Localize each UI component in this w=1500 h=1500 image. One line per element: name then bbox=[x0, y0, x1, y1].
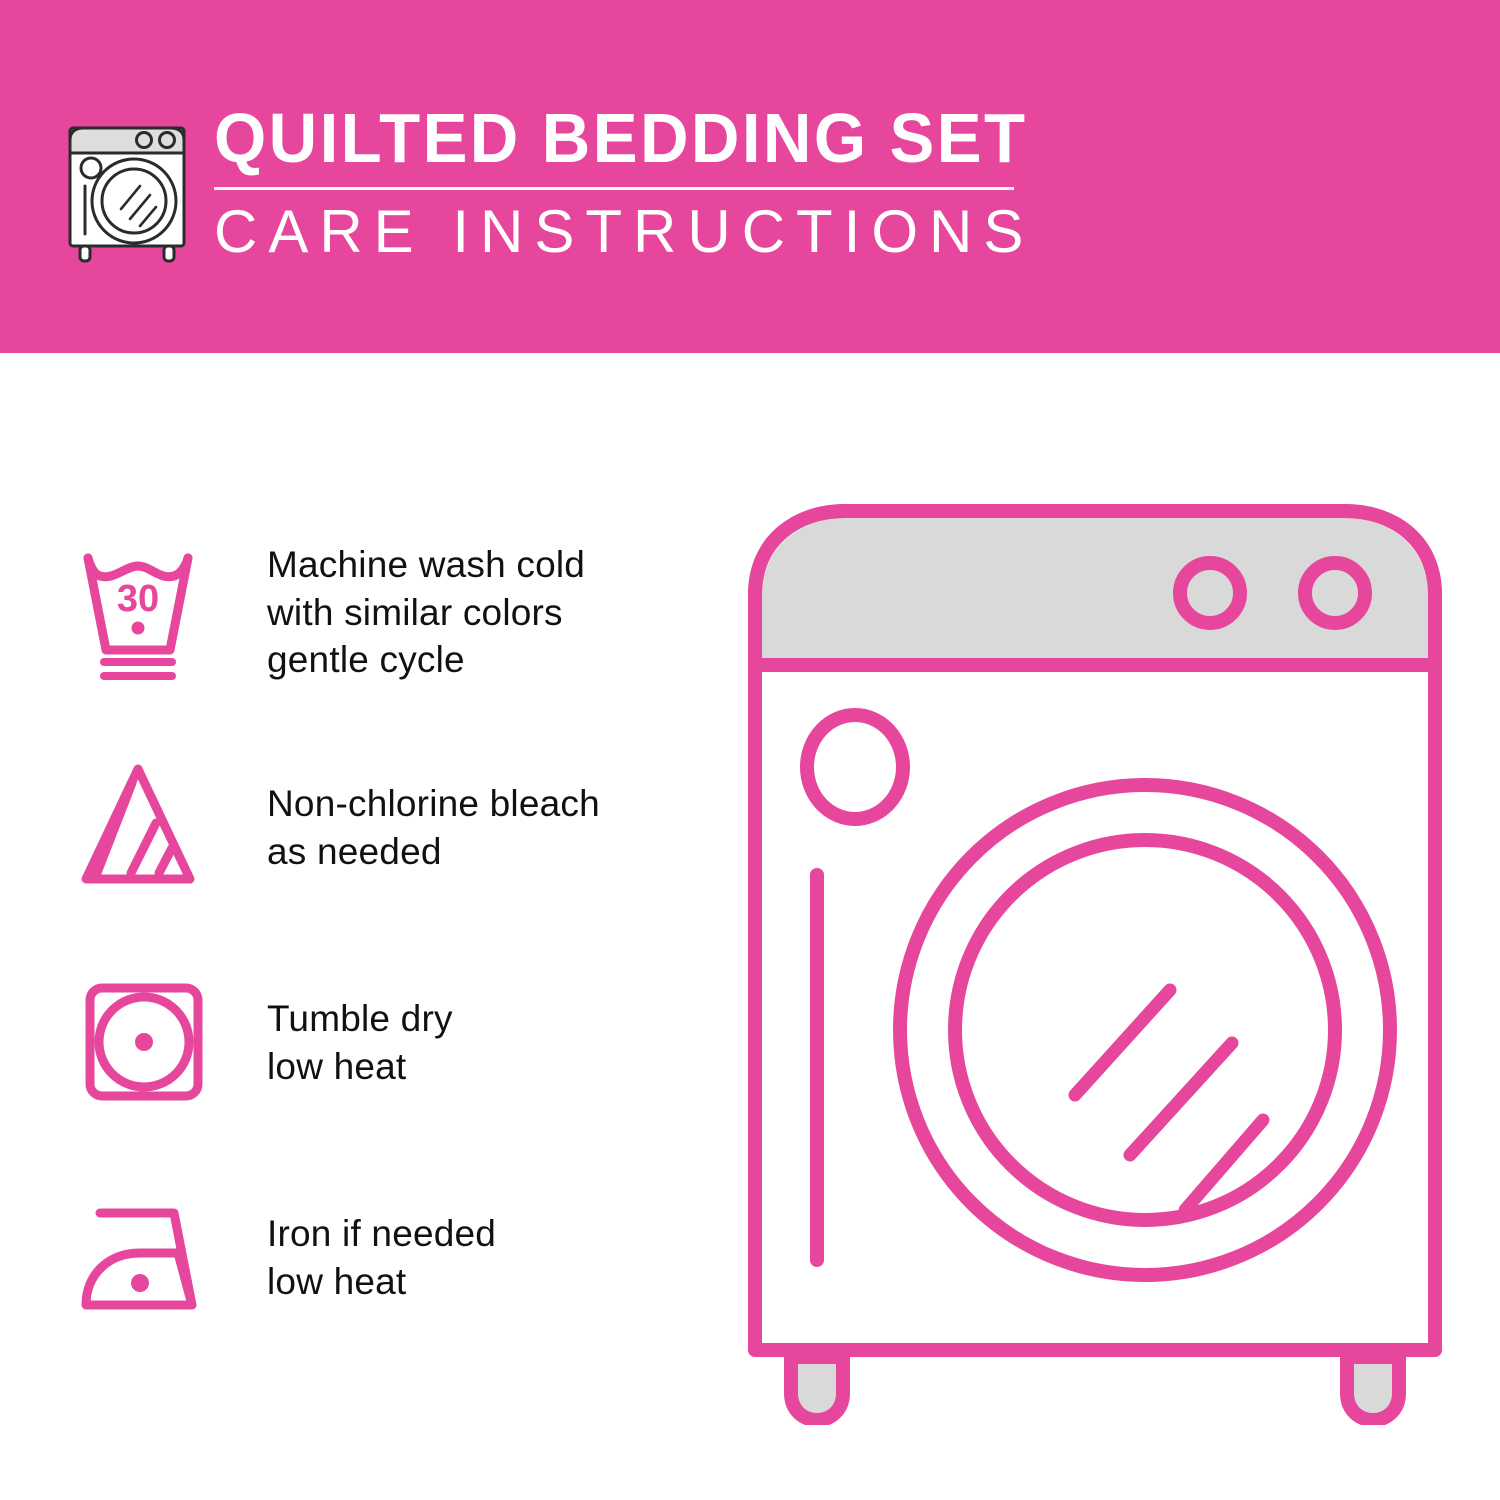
header-banner: QUILTED BEDDING SET CARE INSTRUCTIONS bbox=[0, 0, 1500, 353]
header-content: QUILTED BEDDING SET CARE INSTRUCTIONS bbox=[62, 100, 1061, 266]
care-row: 30 Machine wash cold with similar colors… bbox=[70, 505, 730, 720]
header-text-block: QUILTED BEDDING SET CARE INSTRUCTIONS bbox=[214, 100, 1061, 262]
care-instructions-page: QUILTED BEDDING SET CARE INSTRUCTIONS 30 bbox=[0, 0, 1500, 1500]
door-inner-ring bbox=[955, 840, 1335, 1220]
tumble-dry-icon bbox=[70, 968, 230, 1118]
page-title: QUILTED BEDDING SET bbox=[214, 104, 1027, 173]
care-row: Iron if needed low heat bbox=[70, 1150, 730, 1365]
care-instruction-list: 30 Machine wash cold with similar colors… bbox=[70, 505, 730, 1365]
page-subtitle: CARE INSTRUCTIONS bbox=[214, 202, 1061, 262]
wash-tub-30-icon: 30 bbox=[70, 538, 230, 688]
knob-right bbox=[1305, 563, 1365, 623]
knob-left bbox=[1180, 563, 1240, 623]
care-symbol-slot bbox=[70, 753, 245, 903]
care-row: Tumble dry low heat bbox=[70, 935, 730, 1150]
care-label: Non-chlorine bleach as needed bbox=[245, 780, 600, 875]
indicator-circle bbox=[807, 715, 903, 819]
care-label: Machine wash cold with similar colors ge… bbox=[245, 541, 585, 683]
washing-machine-illustration bbox=[745, 495, 1445, 1425]
iron-icon bbox=[70, 1183, 230, 1333]
leg-right bbox=[1347, 1357, 1399, 1420]
header-divider bbox=[214, 187, 1014, 190]
care-row: Non-chlorine bleach as needed bbox=[70, 720, 730, 935]
wash-temperature-value: 30 bbox=[117, 578, 159, 620]
leg-left bbox=[791, 1357, 843, 1420]
care-label: Iron if needed low heat bbox=[245, 1210, 496, 1305]
care-symbol-slot: 30 bbox=[70, 538, 245, 688]
care-symbol-slot bbox=[70, 1183, 245, 1333]
washing-machine-icon bbox=[62, 106, 192, 266]
bleach-triangle-icon bbox=[70, 753, 230, 903]
care-symbol-slot bbox=[70, 968, 245, 1118]
care-label: Tumble dry low heat bbox=[245, 995, 453, 1090]
